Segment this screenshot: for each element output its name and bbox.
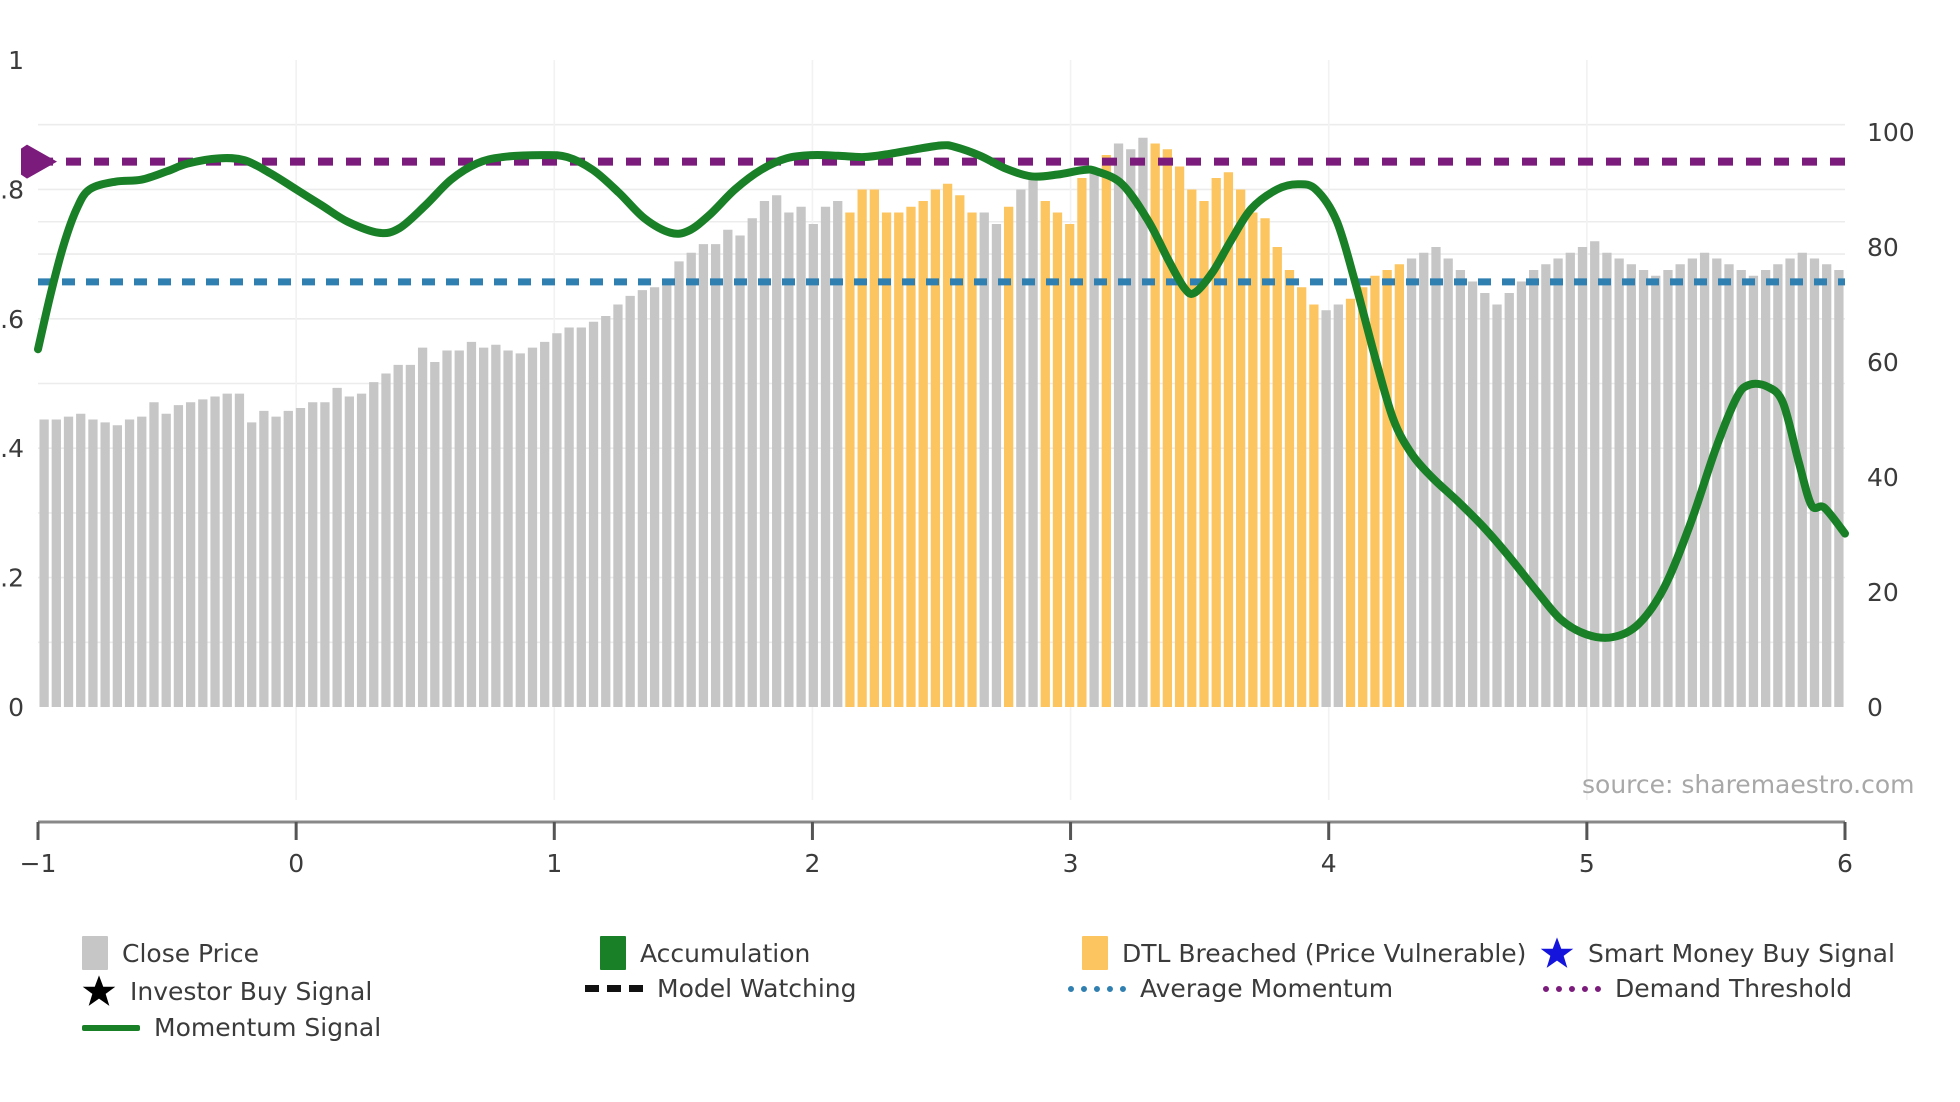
close-price-bar bbox=[467, 342, 476, 707]
close-price-bar bbox=[1773, 264, 1782, 707]
close-price-bar bbox=[52, 420, 61, 708]
black-star-icon bbox=[82, 974, 116, 1008]
close-price-bar bbox=[1419, 253, 1428, 707]
close-price-bar bbox=[833, 201, 842, 707]
close-price-bar bbox=[1822, 264, 1831, 707]
legend-label-model-watching: Model Watching bbox=[657, 974, 857, 1003]
legend-label-smart-money-buy-signal: Smart Money Buy Signal bbox=[1588, 939, 1895, 968]
close-price-bar bbox=[259, 411, 268, 707]
close-price-bar bbox=[626, 296, 635, 707]
close-price-bar bbox=[1505, 293, 1514, 707]
close-price-bar bbox=[1492, 305, 1501, 708]
dtl-breached-bar bbox=[919, 201, 928, 707]
close-price-bar bbox=[711, 244, 720, 707]
svg-text:5: 5 bbox=[1579, 849, 1595, 878]
close-price-bar bbox=[1785, 259, 1794, 708]
dtl-breached-bar bbox=[943, 184, 952, 707]
close-price-bar bbox=[589, 322, 598, 707]
close-price-bar bbox=[613, 305, 622, 708]
close-price-bar bbox=[418, 348, 427, 707]
dtl-breached-bar bbox=[1285, 270, 1294, 707]
dtl-breached-bar bbox=[1358, 287, 1367, 707]
dtl-breached-bar bbox=[1260, 218, 1269, 707]
close-price-bar bbox=[1114, 144, 1123, 708]
close-price-bar bbox=[235, 394, 244, 707]
legend-item-accumulation[interactable]: Accumulation bbox=[600, 936, 810, 970]
dtl-breached-bar bbox=[967, 213, 976, 708]
close-price-bar bbox=[1663, 270, 1672, 707]
dtl-breached-bar bbox=[882, 213, 891, 708]
dtl-breached-bar bbox=[845, 213, 854, 708]
close-price-bar bbox=[601, 316, 610, 707]
close-price-bar bbox=[992, 224, 1001, 707]
close-price-bar bbox=[1761, 270, 1770, 707]
close-price-bar bbox=[308, 402, 317, 707]
legend-item-smart-money-buy-signal[interactable]: Smart Money Buy Signal bbox=[1540, 936, 1895, 970]
close-price-bar bbox=[442, 351, 451, 708]
close-price-bar bbox=[674, 261, 683, 707]
svg-text:0: 0 bbox=[288, 849, 304, 878]
close-price-bar bbox=[540, 342, 549, 707]
close-price-bar bbox=[650, 287, 659, 707]
close-price-bar bbox=[748, 218, 757, 707]
dtl-breached-bar bbox=[858, 190, 867, 708]
close-price-bar bbox=[491, 345, 500, 707]
dtl-breached-bar bbox=[894, 213, 903, 708]
close-price-bar bbox=[137, 417, 146, 707]
close-price-bar bbox=[528, 348, 537, 707]
close-price-bar bbox=[638, 290, 647, 707]
close-price-bar bbox=[1566, 253, 1575, 707]
close-price-bar bbox=[516, 353, 525, 707]
dtl-breached-bar bbox=[1041, 201, 1050, 707]
dtl-breached-bar bbox=[1187, 190, 1196, 708]
dtl-breached-bar bbox=[955, 195, 964, 707]
close-price-bar bbox=[1456, 270, 1465, 707]
legend-item-average-momentum[interactable]: Average Momentum bbox=[1068, 974, 1393, 1003]
dtl-breached-bar bbox=[1053, 213, 1062, 708]
close-price-bar bbox=[1651, 276, 1660, 707]
close-price-bar bbox=[1028, 178, 1037, 707]
dtl-breached-bar bbox=[1102, 155, 1111, 707]
close-price-bar bbox=[1444, 259, 1453, 708]
close-price-bar bbox=[320, 402, 329, 707]
svg-text:100: 100 bbox=[1867, 118, 1915, 147]
close-price-bar bbox=[76, 414, 85, 707]
dtl-breached-bar bbox=[1065, 224, 1074, 707]
blue-star-icon bbox=[1540, 936, 1574, 970]
close-price-bar bbox=[687, 253, 696, 707]
close-price-bar bbox=[125, 420, 134, 708]
legend-item-momentum-signal[interactable]: Momentum Signal bbox=[82, 1013, 381, 1042]
dtl-breached-bar bbox=[1309, 305, 1318, 708]
dtl-breached-bar bbox=[1236, 190, 1245, 708]
dtl-breached-bar bbox=[1248, 213, 1257, 708]
svg-text:0.4: 0.4 bbox=[0, 434, 24, 463]
green-bar-swatch-icon bbox=[600, 936, 626, 970]
svg-text:40: 40 bbox=[1867, 463, 1899, 492]
close-price-bar bbox=[1407, 259, 1416, 708]
close-price-bars bbox=[39, 138, 1843, 707]
close-price-bar bbox=[186, 402, 195, 707]
close-price-bar bbox=[662, 279, 671, 707]
svg-text:−1: −1 bbox=[20, 849, 57, 878]
close-price-bar bbox=[1517, 282, 1526, 708]
close-price-bar bbox=[406, 365, 415, 707]
close-price-bar bbox=[247, 422, 256, 707]
close-price-bar bbox=[39, 420, 48, 708]
close-price-bar bbox=[699, 244, 708, 707]
close-price-bar bbox=[980, 213, 989, 708]
svg-text:0: 0 bbox=[1867, 693, 1883, 722]
dtl-breached-bar bbox=[1346, 299, 1355, 707]
close-price-bar bbox=[357, 394, 366, 707]
gray-bar-swatch-icon bbox=[82, 936, 108, 970]
dtl-breached-bar bbox=[1273, 247, 1282, 707]
close-price-bar bbox=[1712, 259, 1721, 708]
close-price-bar bbox=[284, 411, 293, 707]
legend-label-momentum-signal: Momentum Signal bbox=[154, 1013, 381, 1042]
close-price-bar bbox=[174, 405, 183, 707]
close-price-bar bbox=[1749, 276, 1758, 707]
svg-text:3: 3 bbox=[1063, 849, 1079, 878]
green-line-icon bbox=[82, 1025, 140, 1031]
close-price-bar bbox=[577, 328, 586, 708]
vertical-gridlines bbox=[296, 60, 1587, 800]
close-price-bar bbox=[1688, 259, 1697, 708]
chart-plot-area: −1012345600.20.40.60.81020406080100 sour… bbox=[0, 0, 1960, 900]
close-price-bar bbox=[149, 402, 158, 707]
close-price-bar bbox=[345, 397, 354, 708]
close-price-bar bbox=[1737, 270, 1746, 707]
close-price-bar bbox=[1541, 264, 1550, 707]
close-price-bar bbox=[162, 414, 171, 707]
close-price-bar bbox=[64, 417, 73, 707]
close-price-bar bbox=[564, 328, 573, 708]
dtl-breached-bar bbox=[1297, 287, 1306, 707]
legend-item-dtl-breached[interactable]: DTL Breached (Price Vulnerable) bbox=[1082, 936, 1526, 970]
svg-text:4: 4 bbox=[1321, 849, 1337, 878]
close-price-bar bbox=[1639, 270, 1648, 707]
close-price-bar bbox=[760, 201, 769, 707]
source-annotation: source: sharemaestro.com bbox=[1582, 770, 1915, 799]
close-price-bar bbox=[332, 388, 341, 707]
close-price-bar bbox=[1334, 305, 1343, 708]
purple-dotted-line-icon bbox=[1543, 986, 1601, 992]
close-price-bar bbox=[1627, 264, 1636, 707]
close-price-bar bbox=[1089, 172, 1098, 707]
close-price-bar bbox=[1321, 310, 1330, 707]
close-price-bar bbox=[101, 422, 110, 707]
dtl-breached-bar bbox=[1383, 270, 1392, 707]
close-price-bar bbox=[381, 374, 390, 708]
close-price-bar bbox=[210, 397, 219, 708]
demand-threshold-start-marker bbox=[21, 145, 57, 179]
chart-legend: Close Price Accumulation DTL Breached (P… bbox=[0, 918, 1960, 1098]
dtl-breached-bar bbox=[931, 190, 940, 708]
legend-label-accumulation: Accumulation bbox=[640, 939, 810, 968]
close-price-bar bbox=[821, 207, 830, 707]
close-price-bar bbox=[113, 425, 122, 707]
close-price-bar bbox=[455, 351, 464, 708]
close-price-bar bbox=[784, 213, 793, 708]
svg-text:1: 1 bbox=[546, 849, 562, 878]
close-price-bar bbox=[1553, 259, 1562, 708]
close-price-bar bbox=[394, 365, 403, 707]
svg-text:0.8: 0.8 bbox=[0, 175, 24, 204]
close-price-bar bbox=[479, 348, 488, 707]
close-price-bar bbox=[1529, 270, 1538, 707]
legend-item-close-price[interactable]: Close Price bbox=[82, 936, 259, 970]
close-price-bar bbox=[1810, 259, 1819, 708]
chart-svg: −1012345600.20.40.60.81020406080100 bbox=[0, 0, 1960, 900]
svg-text:1: 1 bbox=[8, 46, 24, 75]
close-price-bar bbox=[1126, 149, 1135, 707]
close-price-bar bbox=[369, 382, 378, 707]
svg-text:6: 6 bbox=[1837, 849, 1853, 878]
dtl-breached-bar bbox=[1395, 264, 1404, 707]
close-price-bar bbox=[723, 230, 732, 707]
svg-text:0: 0 bbox=[8, 693, 24, 722]
close-price-bar bbox=[430, 362, 439, 707]
close-price-bar bbox=[296, 408, 305, 707]
orange-bar-swatch-icon bbox=[1082, 936, 1108, 970]
close-price-bar bbox=[1676, 264, 1685, 707]
dtl-breached-bar bbox=[1077, 178, 1086, 707]
svg-text:2: 2 bbox=[804, 849, 820, 878]
close-price-bar bbox=[271, 417, 280, 707]
legend-label-average-momentum: Average Momentum bbox=[1140, 974, 1393, 1003]
close-price-bar bbox=[223, 394, 232, 707]
close-price-bar bbox=[1834, 270, 1843, 707]
legend-item-model-watching[interactable]: Model Watching bbox=[585, 974, 857, 1003]
legend-label-dtl-breached: DTL Breached (Price Vulnerable) bbox=[1122, 939, 1526, 968]
svg-text:60: 60 bbox=[1867, 348, 1899, 377]
legend-label-investor-buy-signal: Investor Buy Signal bbox=[130, 977, 372, 1006]
close-price-bar bbox=[1468, 282, 1477, 708]
legend-label-demand-threshold: Demand Threshold bbox=[1615, 974, 1852, 1003]
source-text: source: sharemaestro.com bbox=[1582, 770, 1915, 799]
dtl-breached-bar bbox=[1163, 149, 1172, 707]
close-price-bar bbox=[198, 399, 207, 707]
close-price-bar bbox=[552, 333, 561, 707]
close-price-bar bbox=[796, 207, 805, 707]
blue-dotted-line-icon bbox=[1068, 986, 1126, 992]
close-price-bar bbox=[88, 420, 97, 708]
dtl-breached-bar bbox=[1175, 167, 1184, 708]
close-price-bar bbox=[1724, 264, 1733, 707]
svg-text:20: 20 bbox=[1867, 578, 1899, 607]
svg-text:0.2: 0.2 bbox=[0, 564, 24, 593]
legend-label-close-price: Close Price bbox=[122, 939, 259, 968]
dashed-line-icon bbox=[585, 985, 643, 992]
dtl-breached-bar bbox=[870, 190, 879, 708]
close-price-bar bbox=[735, 236, 744, 708]
close-price-bar bbox=[1480, 293, 1489, 707]
close-price-bar bbox=[809, 224, 818, 707]
close-price-bar bbox=[503, 351, 512, 708]
svg-text:80: 80 bbox=[1867, 233, 1899, 262]
close-price-bar bbox=[772, 195, 781, 707]
close-price-bar bbox=[1016, 190, 1025, 708]
svg-text:0.6: 0.6 bbox=[0, 305, 24, 334]
legend-item-investor-buy-signal[interactable]: Investor Buy Signal bbox=[82, 974, 372, 1008]
legend-item-demand-threshold[interactable]: Demand Threshold bbox=[1543, 974, 1852, 1003]
